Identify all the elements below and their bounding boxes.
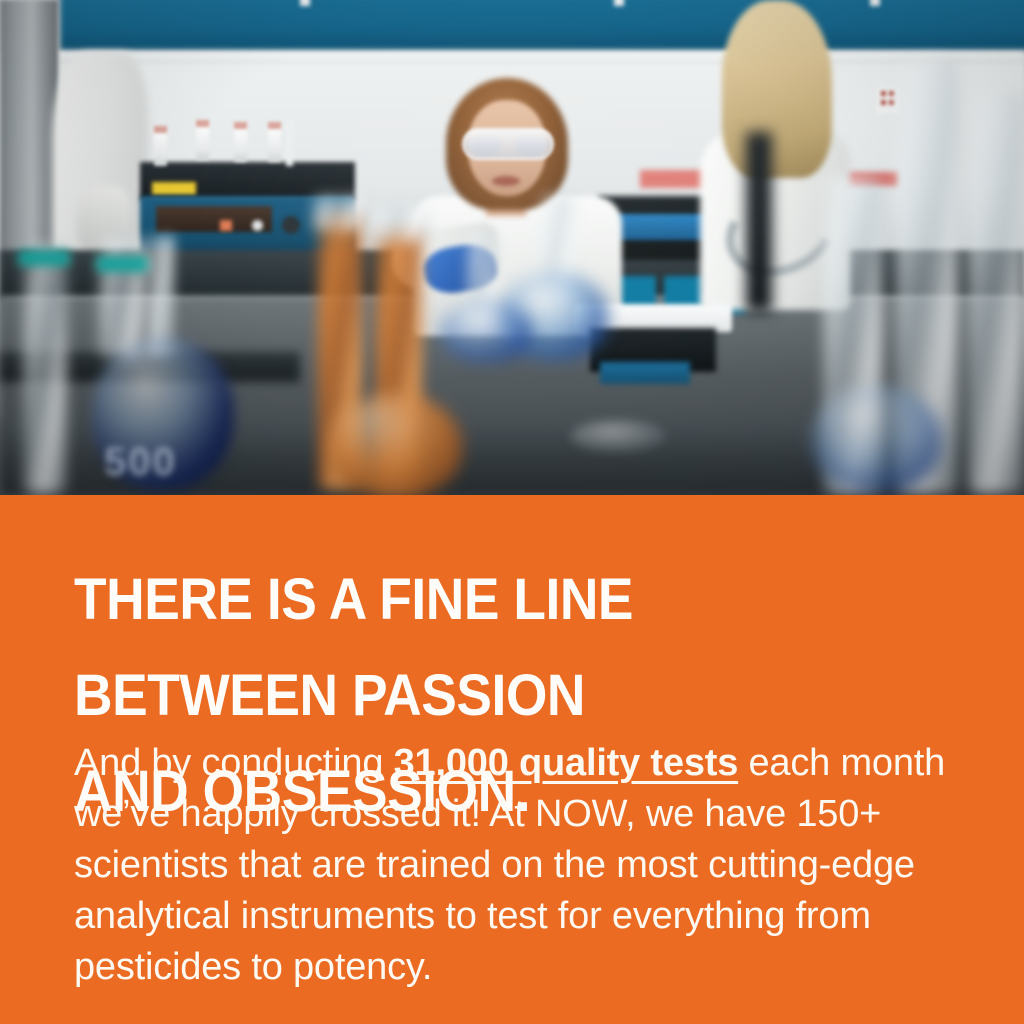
poster-canvas: 500 THERE IS A FINE LINE BETWEEN PASSION…	[0, 0, 1024, 1024]
flask-500-volume-label: 500	[104, 440, 177, 485]
highlighted-stat: 31,000 quality tests	[394, 742, 739, 784]
cabinet-divider	[300, 0, 310, 6]
rack-post	[286, 118, 293, 166]
test-tube-cap	[268, 122, 281, 129]
flask-blue-liquid	[440, 300, 532, 362]
safety-goggles-icon	[462, 128, 554, 160]
foreground-glass-column	[24, 246, 66, 494]
petri-dish	[570, 420, 666, 452]
glassware-teal-cap	[96, 256, 150, 272]
overhead-blue-cabinets	[60, 0, 1024, 50]
glassware-teal-cap	[18, 250, 70, 266]
instrument-knob	[282, 216, 300, 234]
cabinet-divider	[614, 0, 624, 6]
back-equipment-blue-panel	[610, 214, 708, 240]
instrument-button	[252, 220, 263, 231]
cabinet-divider	[870, 0, 880, 6]
amber-flask-bulb	[330, 394, 462, 495]
test-tube	[234, 126, 247, 162]
foreground-flask-bulb	[812, 386, 942, 492]
test-tube	[154, 130, 167, 166]
body-text-before: And by conducting	[74, 742, 394, 784]
test-tube-cap	[154, 126, 167, 133]
test-tube-cap	[234, 122, 247, 129]
amber-flask-stopper	[370, 208, 428, 242]
machine-yellow-tag	[152, 182, 196, 195]
instrument-indicator	[220, 220, 232, 231]
headline-line-2: BETWEEN PASSION	[74, 672, 902, 720]
scientist-center-mouth	[492, 176, 520, 186]
test-tube	[268, 126, 281, 162]
test-tube	[196, 124, 209, 160]
headline-line-1: THERE IS A FINE LINE	[74, 576, 902, 624]
lab-photo: 500	[0, 0, 1024, 495]
test-tube-cap	[196, 120, 209, 127]
scientist-right-hair	[722, 0, 832, 178]
balance-blue-panel	[600, 362, 690, 384]
body-paragraph: And by conducting 31,000 quality tests e…	[74, 738, 954, 993]
amber-flask-stopper	[312, 196, 368, 230]
foreground-glass-column	[968, 92, 1024, 494]
dark-vertical-fixture	[746, 132, 772, 312]
